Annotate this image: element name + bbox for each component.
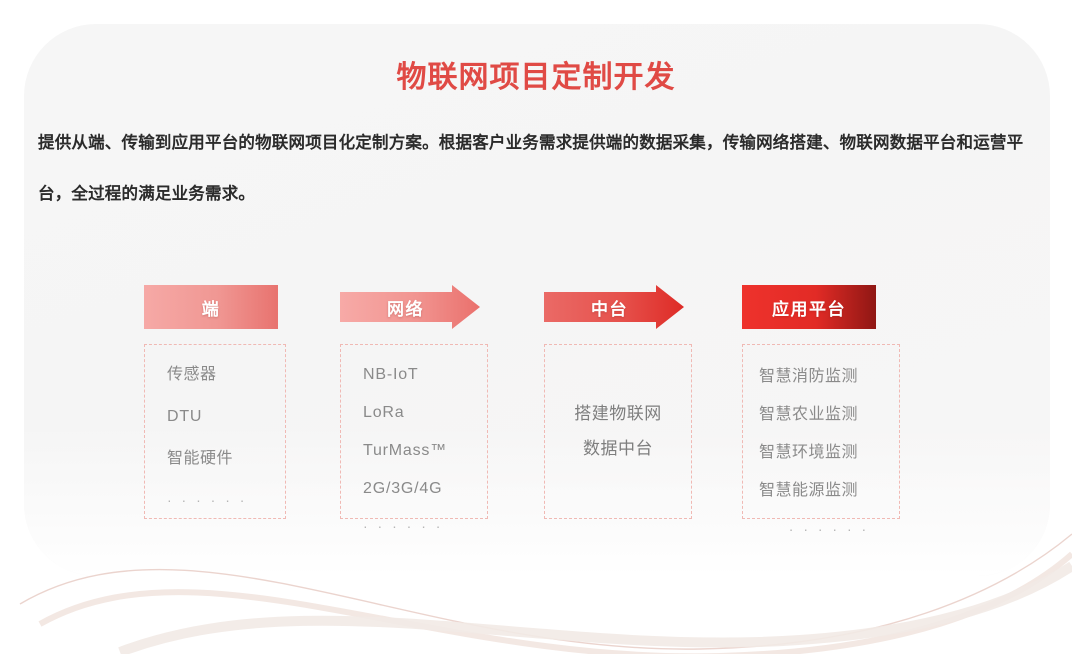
slide-canvas: 物联网项目定制开发 提供从端、传输到应用平台的物联网项目化定制方案。根据客户业务…: [0, 0, 1072, 654]
list-item: 数据中台: [583, 436, 653, 462]
flow-stage-network: 网络 NB-IoT LoRa TurMass™ 2G/3G/4G · · · ·…: [340, 285, 510, 519]
list-item: DTU: [167, 409, 285, 425]
list-item: 传感器: [167, 367, 285, 383]
list-item: 搭建物联网: [574, 401, 662, 427]
stage-card-application-platform: 智慧消防监测 智慧农业监测 智慧环境监测 智慧能源监测 · · · · · ·: [742, 344, 900, 519]
list-item-ellipsis: · · · · · ·: [167, 493, 285, 507]
list-item: TurMass™: [363, 443, 487, 459]
stage-card-body-device: 传感器 DTU 智能硬件 · · · · · ·: [145, 345, 285, 518]
list-item: 智慧能源监测: [759, 483, 899, 499]
stage-banner-network[interactable]: 网络: [340, 285, 510, 329]
stage-label-device: 端: [144, 285, 278, 329]
list-item-ellipsis: · · · · · ·: [759, 521, 899, 537]
stage-card-device: 传感器 DTU 智能硬件 · · · · · ·: [144, 344, 286, 519]
page-title: 物联网项目定制开发: [0, 52, 1072, 96]
list-item: 智慧消防监测: [759, 369, 899, 385]
list-item: 智能硬件: [167, 451, 285, 467]
stage-banner-application-platform[interactable]: 应用平台: [742, 285, 912, 329]
flow-stage-device: 端 传感器 DTU 智能硬件 · · · · · ·: [144, 285, 314, 519]
stage-card-body-middle-platform: 搭建物联网 数据中台: [545, 345, 691, 518]
list-item: 智慧农业监测: [759, 407, 899, 423]
list-item: LoRa: [363, 405, 487, 421]
stage-card-body-network: NB-IoT LoRa TurMass™ 2G/3G/4G · · · · · …: [341, 345, 487, 518]
intro-paragraph: 提供从端、传输到应用平台的物联网项目化定制方案。根据客户业务需求提供端的数据采集…: [38, 118, 1034, 220]
stage-card-network: NB-IoT LoRa TurMass™ 2G/3G/4G · · · · · …: [340, 344, 488, 519]
list-item: 智慧环境监测: [759, 445, 899, 461]
stage-card-middle-platform: 搭建物联网 数据中台: [544, 344, 692, 519]
stage-label-network: 网络: [340, 285, 471, 329]
stage-label-middle-platform: 中台: [544, 285, 675, 329]
flow-diagram: 端 传感器 DTU 智能硬件 · · · · · ·: [144, 285, 934, 535]
stage-banner-device[interactable]: 端: [144, 285, 314, 329]
list-item: NB-IoT: [363, 367, 487, 383]
list-item: 2G/3G/4G: [363, 481, 487, 497]
flow-stage-application-platform: 应用平台 智慧消防监测 智慧农业监测 智慧环境监测 智慧能源监测 · · · ·…: [742, 285, 912, 519]
stage-card-body-application-platform: 智慧消防监测 智慧农业监测 智慧环境监测 智慧能源监测 · · · · · ·: [743, 345, 899, 518]
list-item-ellipsis: · · · · · ·: [363, 519, 487, 533]
stage-label-application-platform: 应用平台: [742, 285, 876, 329]
stage-banner-middle-platform[interactable]: 中台: [544, 285, 714, 329]
flow-stage-middle-platform: 中台 搭建物联网 数据中台: [544, 285, 714, 519]
